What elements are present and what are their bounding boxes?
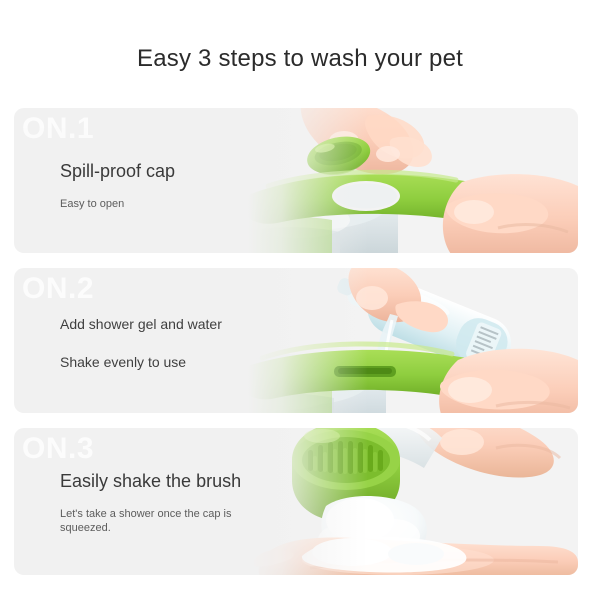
step-text-2: Add shower gel and water Shake evenly to… <box>60 316 222 371</box>
product-infographic: Easy 3 steps to wash your pet <box>0 0 600 600</box>
step-line-2-2: Shake evenly to use <box>60 354 222 371</box>
page-title: Easy 3 steps to wash your pet <box>0 45 600 73</box>
step-subtext-1: Easy to open <box>60 197 175 211</box>
photo-pour-gel <box>248 268 578 413</box>
step-text-3: Easily shake the brush Let's take a show… <box>60 470 275 535</box>
step-panel-1: ON.1 Spill-proof cap Easy to open <box>14 108 578 253</box>
step-heading-3: Easily shake the brush <box>60 470 275 493</box>
step-heading-1: Spill-proof cap <box>60 160 175 183</box>
step-line-2-1: Add shower gel and water <box>60 316 222 333</box>
photo-foam-on-palm <box>248 428 578 575</box>
step-panel-2: ON.2 Add shower gel and water Shake even… <box>14 268 578 413</box>
step-watermark-2: ON.2 <box>22 274 94 304</box>
step-panel-3: ON.3 Easily shake the brush Let's take a… <box>14 428 578 575</box>
step-text-1: Spill-proof cap Easy to open <box>60 160 175 211</box>
step-subtext-3: Let's take a shower once the cap is sque… <box>60 507 275 536</box>
step-watermark-1: ON.1 <box>22 114 94 144</box>
step-watermark-3: ON.3 <box>22 434 94 464</box>
photo-open-cap <box>248 108 578 253</box>
